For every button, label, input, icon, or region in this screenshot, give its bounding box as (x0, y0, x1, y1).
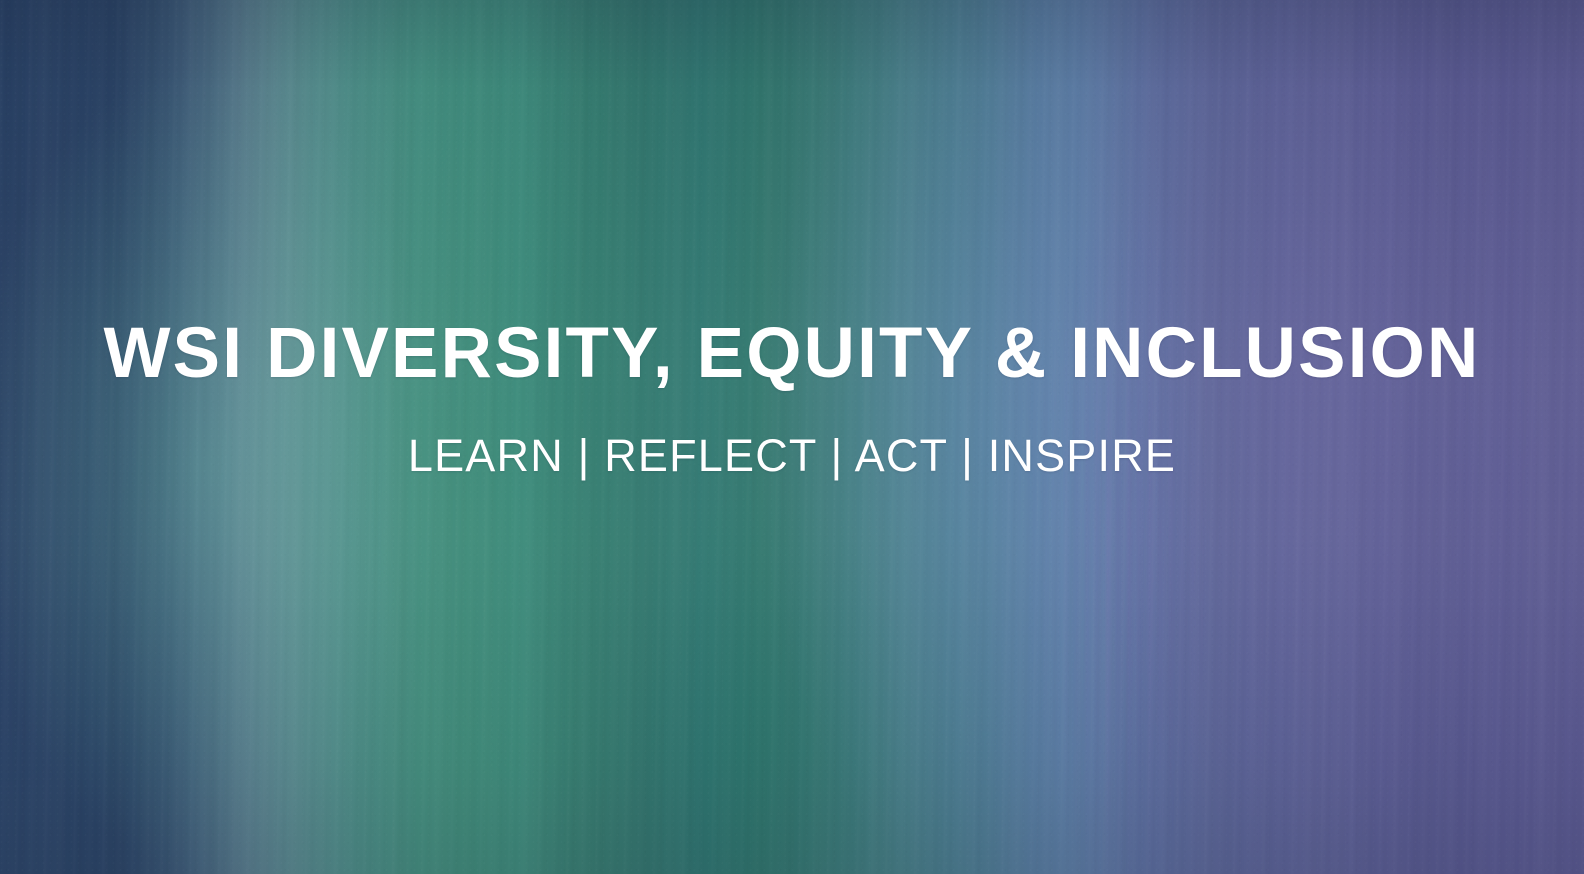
dei-banner: WSI DIVERSITY, EQUITY & INCLUSION LEARN … (0, 0, 1584, 874)
banner-content: WSI DIVERSITY, EQUITY & INCLUSION LEARN … (0, 0, 1584, 874)
banner-headline: WSI DIVERSITY, EQUITY & INCLUSION (0, 318, 1584, 390)
banner-subheadline: LEARN | REFLECT | ACT | INSPIRE (0, 432, 1584, 479)
